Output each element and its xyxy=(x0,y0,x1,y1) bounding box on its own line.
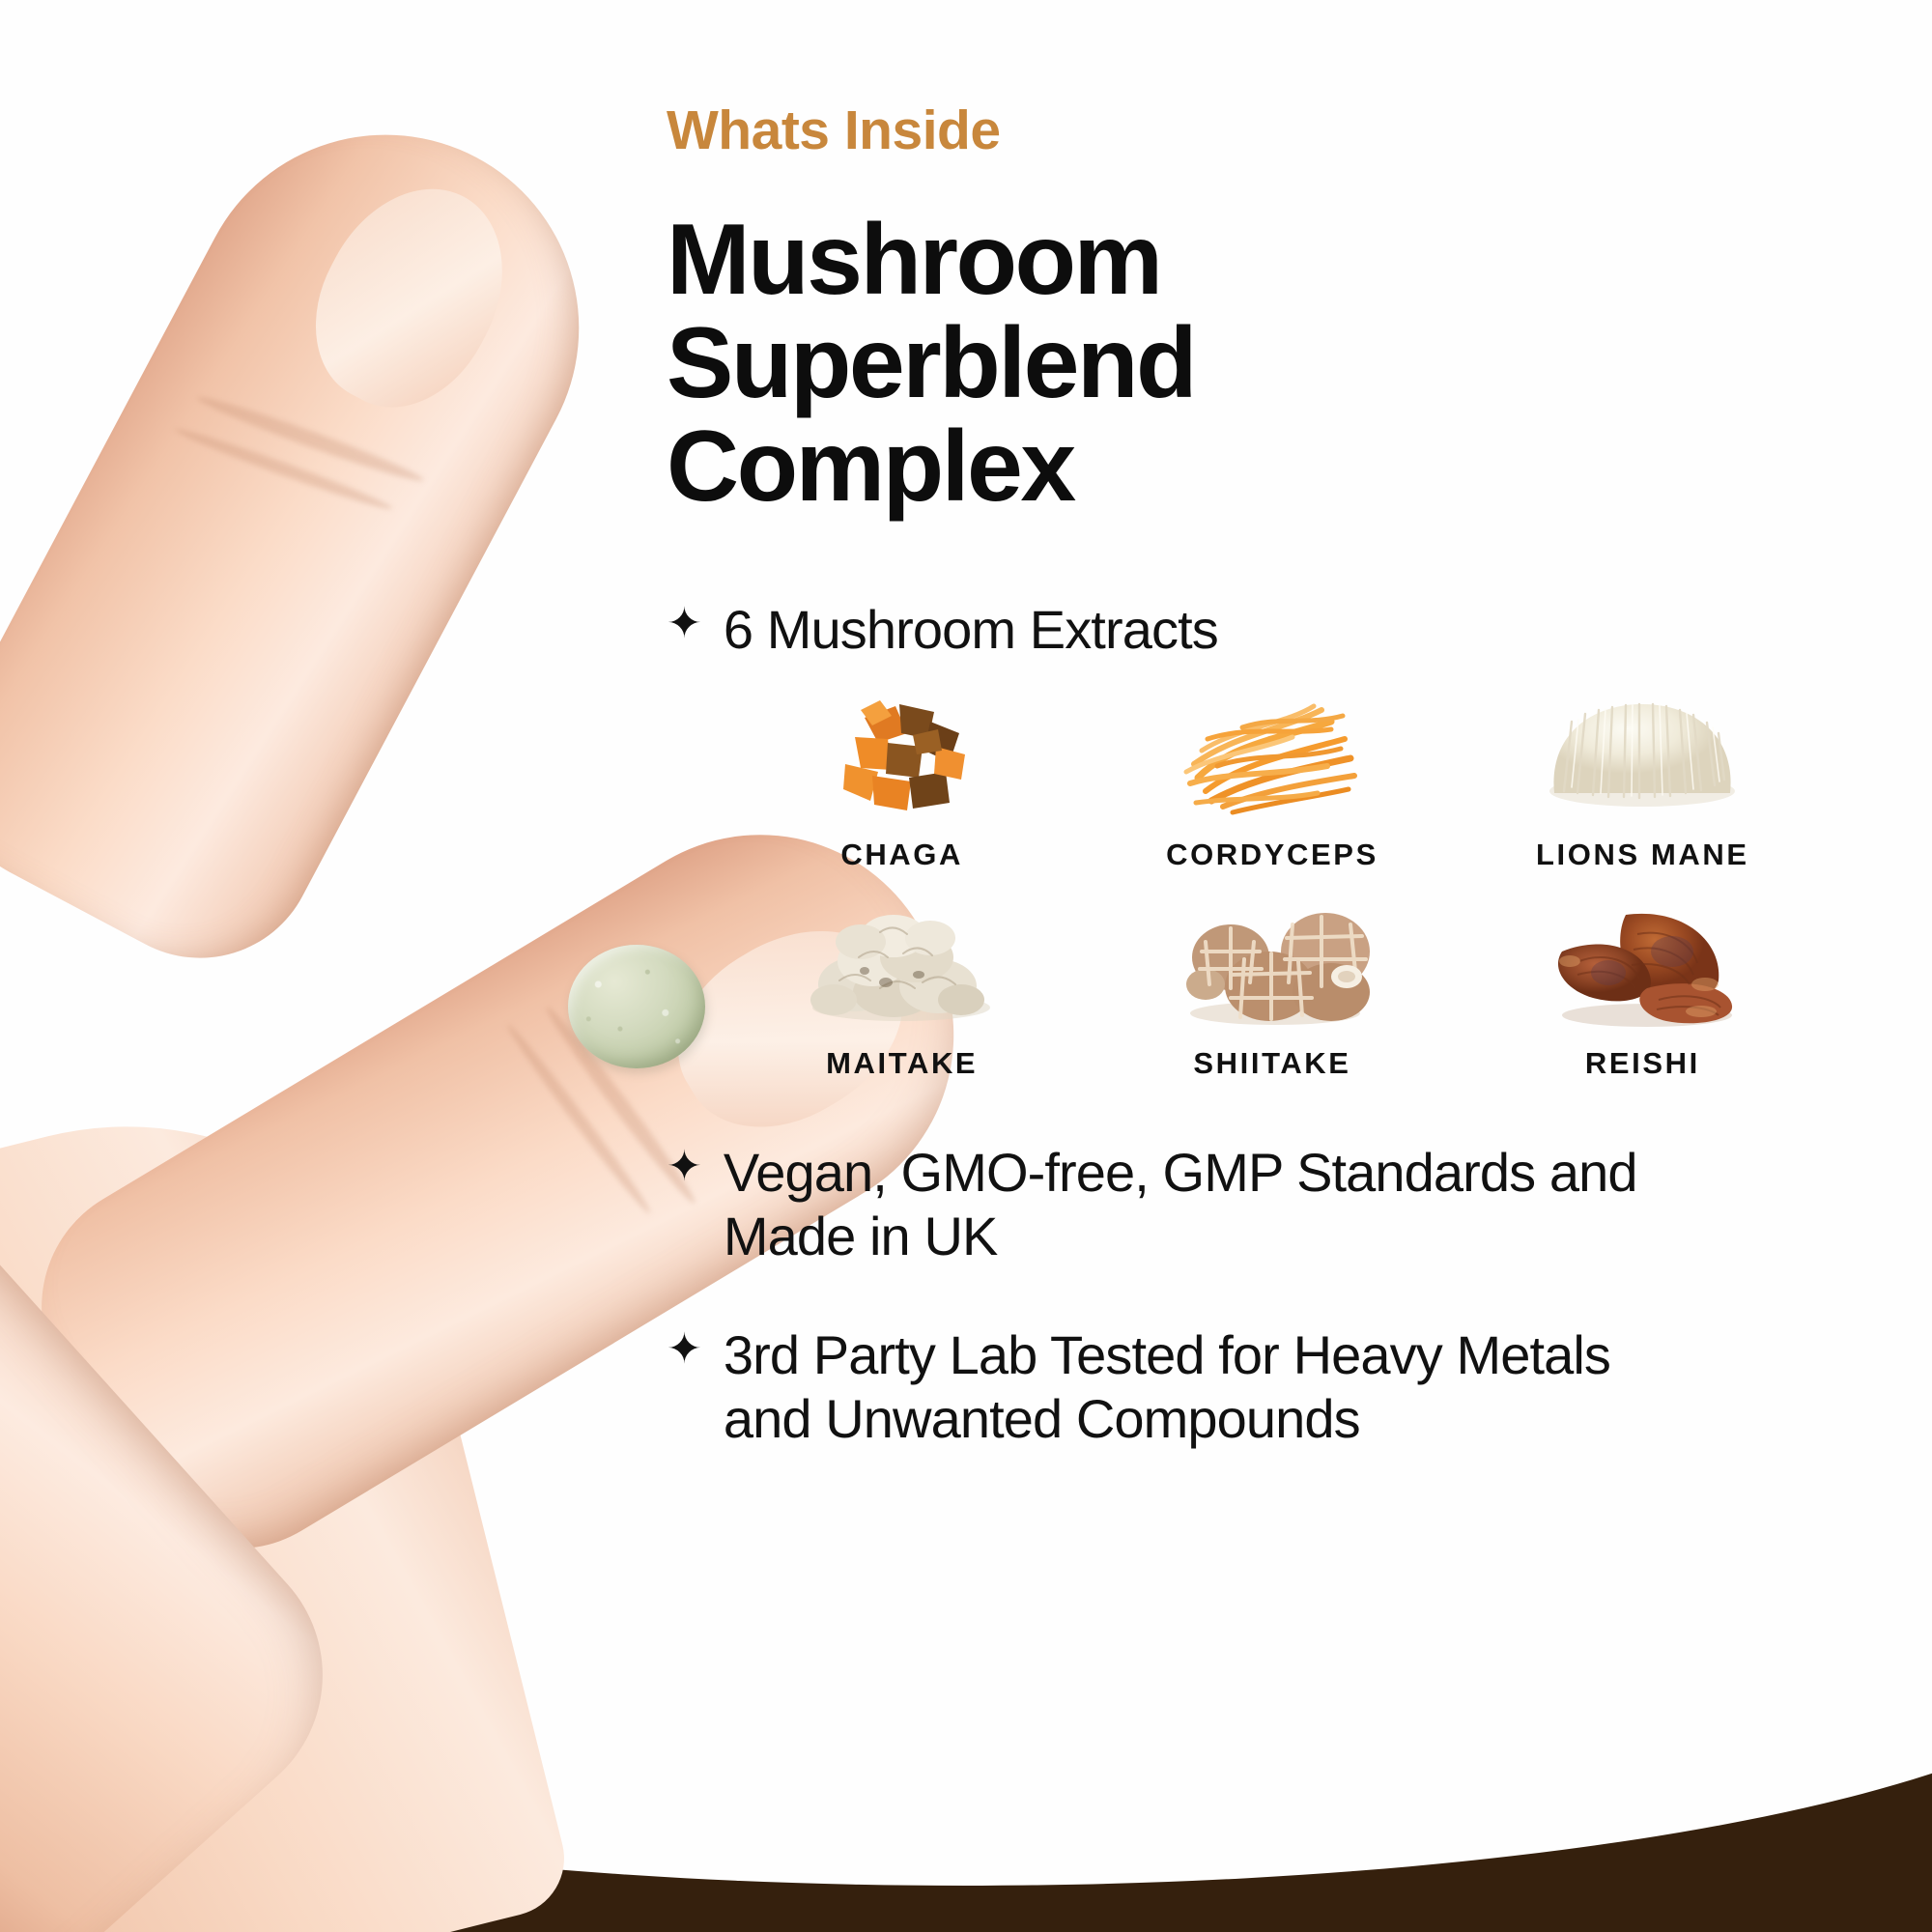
bullet-lab-tested: ✦ 3rd Party Lab Tested for Heavy Metals … xyxy=(667,1323,1874,1451)
headline-line-1: Mushroom xyxy=(667,209,1874,312)
sparkle-icon: ✦ xyxy=(667,1327,702,1372)
hand-holding-tablet-illustration xyxy=(0,0,676,1835)
bullet-extracts: ✦ 6 Mushroom Extracts xyxy=(667,598,1874,662)
cordyceps-strands-icon xyxy=(1142,683,1403,828)
mushroom-label: MAITAKE xyxy=(826,1046,978,1081)
mushroom-cell-chaga: CHAGA xyxy=(717,683,1087,872)
bullet-lab-tested-text: 3rd Party Lab Tested for Heavy Metals an… xyxy=(724,1323,1699,1451)
bullet-extracts-text: 6 Mushroom Extracts xyxy=(724,598,1218,662)
mushroom-label: LIONS MANE xyxy=(1536,838,1749,872)
mushroom-cell-lions-mane: LIONS MANE xyxy=(1458,683,1828,872)
headline-line-3: Complex xyxy=(667,415,1874,519)
maitake-cluster-icon xyxy=(772,892,1033,1037)
page-title: Mushroom Superblend Complex xyxy=(667,209,1874,519)
sparkle-icon: ✦ xyxy=(667,1145,702,1189)
shiitake-caps-icon xyxy=(1142,892,1403,1037)
mushroom-label: CHAGA xyxy=(840,838,963,872)
chaga-chunks-icon xyxy=(772,683,1033,828)
index-finger xyxy=(0,67,647,999)
sparkle-icon: ✦ xyxy=(667,602,702,646)
mushroom-cell-cordyceps: CORDYCEPS xyxy=(1087,683,1457,872)
eyebrow-label: Whats Inside xyxy=(667,103,1874,158)
content-column: Whats Inside Mushroom Superblend Complex… xyxy=(667,0,1874,1835)
index-fingernail xyxy=(282,157,538,438)
mushroom-cell-maitake: MAITAKE xyxy=(717,892,1087,1081)
headline-line-2: Superblend xyxy=(667,312,1874,415)
mushroom-cell-shiitake: SHIITAKE xyxy=(1087,892,1457,1081)
mushroom-label: CORDYCEPS xyxy=(1166,838,1378,872)
bullet-vegan: ✦ Vegan, GMO-free, GMP Standards and Mad… xyxy=(667,1141,1874,1268)
lions-mane-icon xyxy=(1512,683,1773,828)
bullet-vegan-text: Vegan, GMO-free, GMP Standards and Made … xyxy=(724,1141,1699,1268)
mushroom-label: SHIITAKE xyxy=(1193,1046,1350,1081)
mushroom-grid: CHAGA xyxy=(717,683,1828,1081)
mushroom-label: REISHI xyxy=(1585,1046,1700,1081)
product-infographic-canvas: Whats Inside Mushroom Superblend Complex… xyxy=(0,0,1932,1932)
mushroom-cell-reishi: REISHI xyxy=(1458,892,1828,1081)
reishi-fans-icon xyxy=(1512,892,1773,1037)
